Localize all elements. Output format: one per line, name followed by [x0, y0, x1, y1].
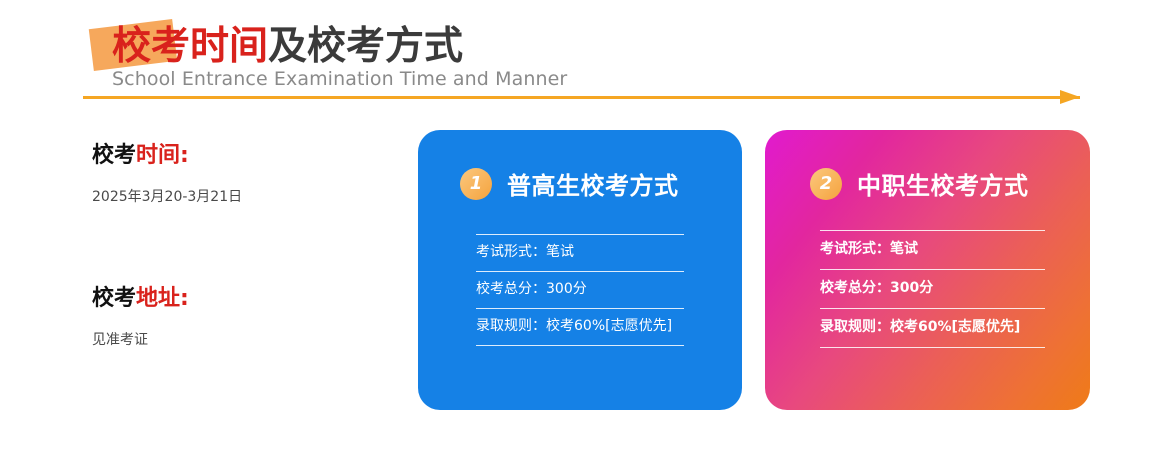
card-2-row-total-score: 校考总分：300分: [820, 269, 1045, 308]
card-2-title: 中职生校考方式: [857, 166, 1029, 201]
exam-time-heading: 校考时间:: [92, 142, 242, 170]
header-divider-line: [83, 96, 1080, 99]
exam-address-value: 见准考证: [92, 329, 189, 349]
page-title: 校考时间及校考方式: [112, 22, 463, 74]
card-1-number-badge: 1: [460, 168, 492, 200]
title-segment-dark: 及校考方式: [268, 24, 463, 69]
exam-address-heading-value: 地址:: [136, 286, 189, 311]
exam-address-heading: 校考地址:: [92, 285, 189, 313]
title-segment-red-2: 时间: [190, 24, 268, 69]
exam-time-heading-value: 时间:: [136, 143, 189, 168]
card-1-row-admission-rule: 录取规则：校考60%[志愿优先]: [476, 308, 684, 345]
exam-time-value: 2025年3月20-3月21日: [92, 186, 242, 206]
card-1-title: 普高生校考方式: [507, 166, 679, 201]
page-header: 校考时间及校考方式 School Entrance Examination Ti…: [0, 0, 1149, 115]
arrow-right-icon: [1060, 90, 1080, 104]
exam-time-heading-key: 校考: [92, 143, 136, 168]
exam-address-heading-key: 校考: [92, 286, 136, 311]
card-1-row-total-score: 校考总分：300分: [476, 271, 684, 308]
exam-time-block: 校考时间: 2025年3月20-3月21日: [92, 142, 242, 206]
card-1-header: 1 普高生校考方式: [460, 166, 679, 201]
card-1-row-exam-form: 考试形式：笔试: [476, 234, 684, 271]
exam-method-card-1: 1 普高生校考方式 考试形式：笔试 校考总分：300分 录取规则：校考60%[志…: [418, 130, 742, 410]
card-2-detail-list: 考试形式：笔试 校考总分：300分 录取规则：校考60%[志愿优先]: [820, 230, 1045, 348]
card-1-detail-list: 考试形式：笔试 校考总分：300分 录取规则：校考60%[志愿优先]: [476, 234, 684, 346]
card-2-row-exam-form: 考试形式：笔试: [820, 230, 1045, 269]
exam-method-card-2: 2 中职生校考方式 考试形式：笔试 校考总分：300分 录取规则：校考60%[志…: [765, 130, 1090, 410]
card-2-header: 2 中职生校考方式: [810, 166, 1029, 201]
title-segment-red-1: 校考: [112, 24, 190, 69]
exam-address-block: 校考地址: 见准考证: [92, 285, 189, 349]
card-2-row-admission-rule: 录取规则：校考60%[志愿优先]: [820, 308, 1045, 347]
page-title-text: 校考时间及校考方式: [112, 22, 463, 72]
card-2-number-badge: 2: [810, 168, 842, 200]
card-2-list-end-divider: [820, 347, 1045, 348]
card-1-list-end-divider: [476, 345, 684, 346]
